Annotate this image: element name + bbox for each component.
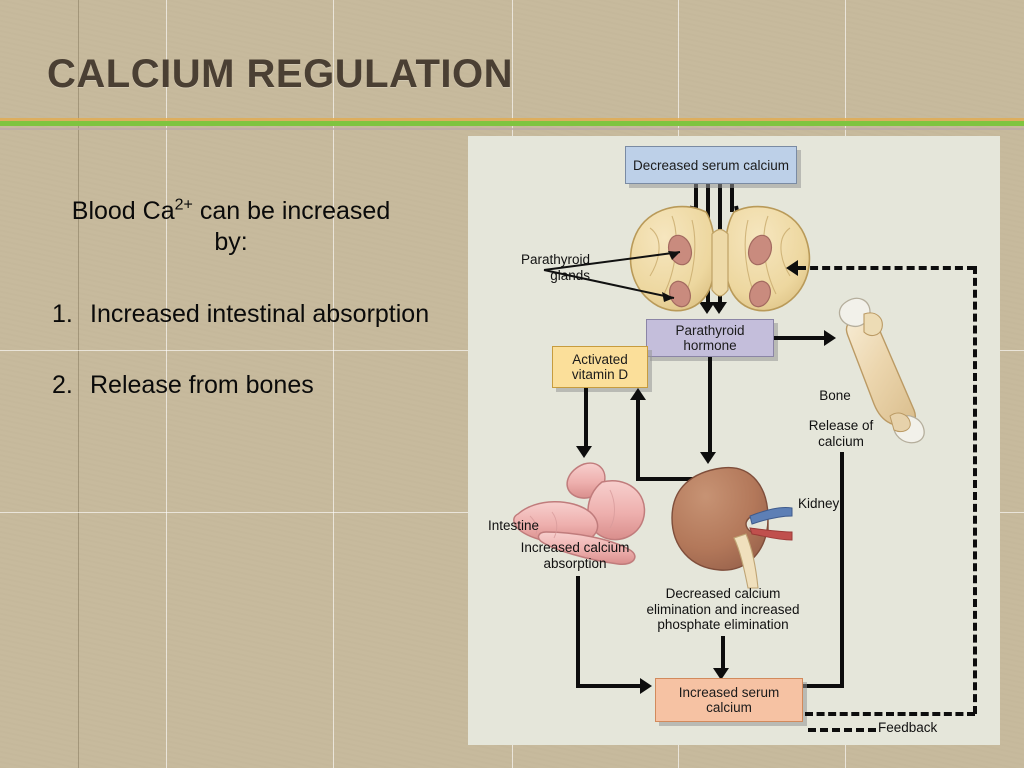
intestine-label: Intestine [488,518,578,534]
feedback-dashed-line [798,266,975,270]
arrow-down-icon [576,446,592,458]
arrow-left-icon [786,260,798,276]
feedback-dashed-line [805,712,975,716]
flow-line [840,452,844,688]
list-item-number: 2. [38,369,90,402]
list-item-label: Release from bones [90,369,438,402]
slide-canvas: CALCIUM REGULATION Blood Ca2+ can be inc… [0,0,1024,768]
list-item: 2. Release from bones [38,369,438,402]
parathyroid-glands-label: Parathyroid glands [480,252,590,283]
lead-prefix: Blood Ca [72,197,175,225]
kidney-label: Kidney [798,496,868,512]
charge-superscript: 2+ [175,197,193,214]
list-item-number: 1. [38,298,90,331]
title-area: CALCIUM REGULATION [0,52,1024,122]
decreased-calcium-elimination-label: Decreased calcium elimination and increa… [608,586,838,633]
flow-line [576,684,642,688]
lead-suffix: can be increased by: [193,197,390,256]
lead-statement: Blood Ca2+ can be increased by: [66,196,396,258]
divider-green [0,121,1024,126]
kidney-illustration [664,462,798,590]
feedback-legend-dash [808,728,876,732]
release-of-calcium-label: Release of calcium [786,418,896,449]
arrow-right-icon [640,678,652,694]
box-increased-serum-calcium[interactable]: Increased serum calcium [655,678,803,722]
divider-mauve [0,128,1024,130]
page-title: CALCIUM REGULATION [47,52,513,97]
flow-line [576,576,580,684]
flow-line [721,636,725,672]
increased-calcium-absorption-label: Increased calcium absorption [490,540,660,571]
box-activated-vitamin-d[interactable]: Activated vitamin D [552,346,648,388]
feedback-legend-label: Feedback [878,720,968,736]
flow-line [584,388,588,450]
list-item: 1. Increased intestinal absorption [38,298,438,331]
flow-line [708,357,712,456]
numbered-list: 1. Increased intestinal absorption 2. Re… [38,298,438,402]
box-decreased-serum-calcium[interactable]: Decreased serum calcium [625,146,797,184]
box-parathyroid-hormone[interactable]: Parathyroid hormone [646,319,774,357]
list-item-label: Increased intestinal absorption [90,298,438,331]
bone-label: Bone [800,388,870,404]
feedback-dashed-line [973,266,977,714]
body-text-block: Blood Ca2+ can be increased by: 1. Incre… [38,196,438,440]
calcium-regulation-diagram: Parathyroid glands Decreased serum calci… [468,136,1000,745]
arrow-up-icon [630,388,646,400]
flow-line [774,336,826,340]
